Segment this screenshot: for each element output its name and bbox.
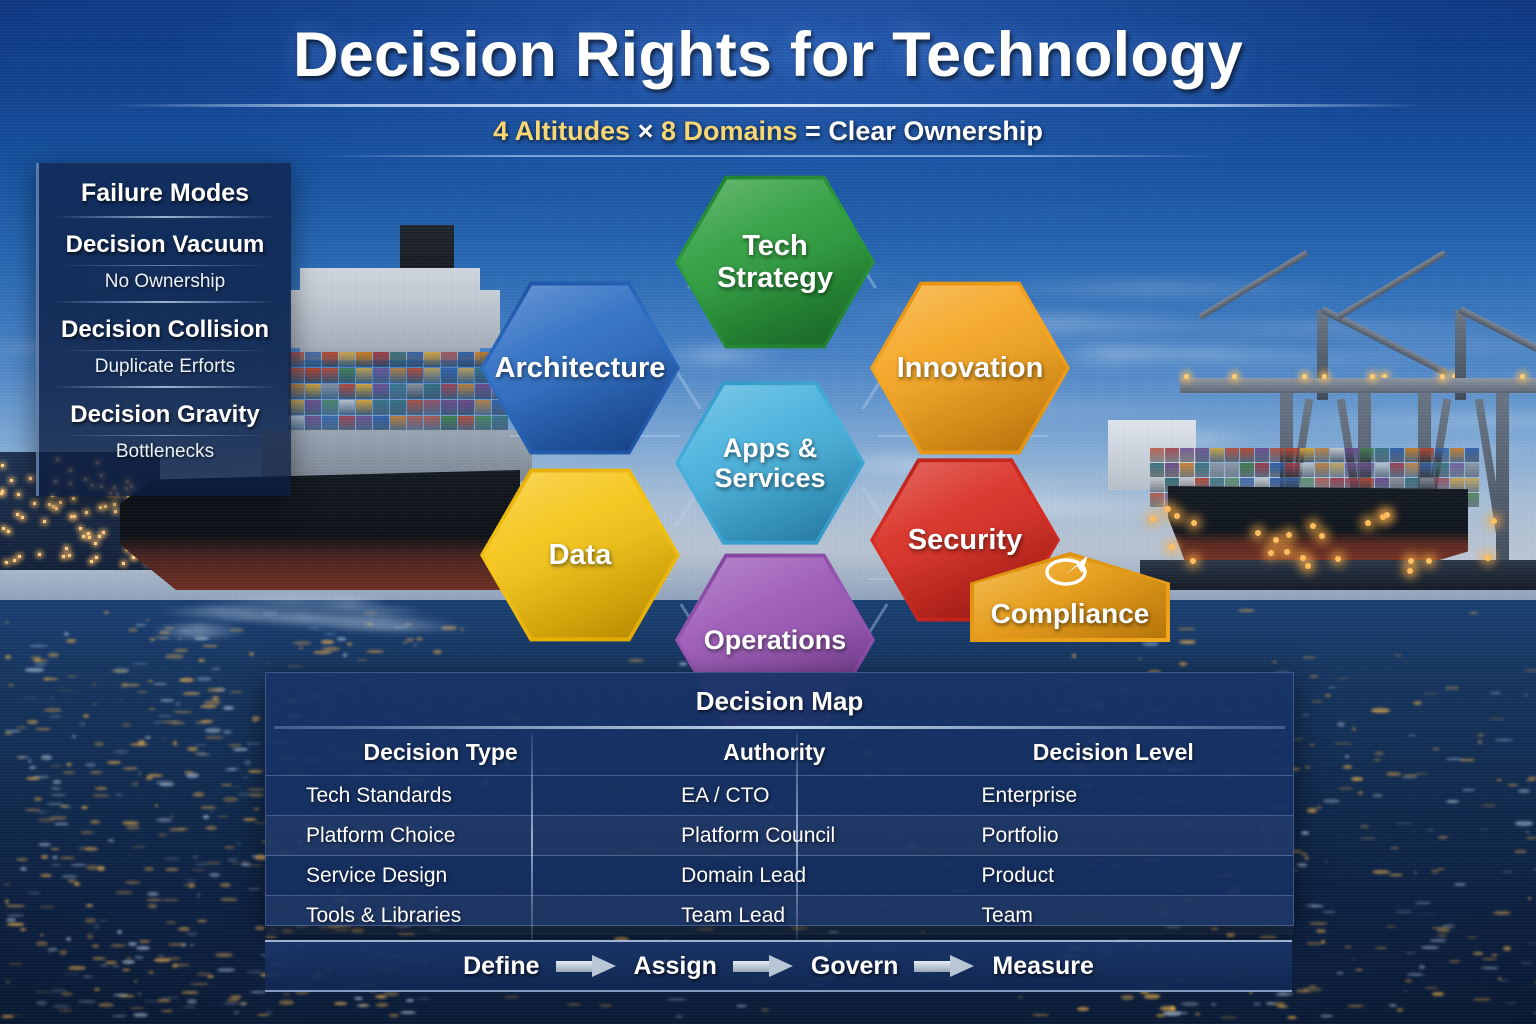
water-reflection (29, 645, 48, 647)
shipping-container (322, 352, 338, 367)
city-light (1, 464, 4, 467)
table-row[interactable]: Service Design Domain Lead Product (266, 856, 1293, 896)
city-light (90, 560, 93, 563)
water-reflection (170, 815, 173, 817)
failure-mode-heading: Decision Vacuum (39, 231, 291, 259)
process-flow-bar: Define Assign Govern Measure (265, 940, 1292, 992)
water-reflection (159, 783, 174, 786)
column-separator (796, 733, 798, 945)
shipping-container (1375, 448, 1389, 462)
table-row[interactable]: Tech Standards EA / CTO Enterprise (266, 776, 1293, 816)
water-reflection (147, 892, 158, 896)
water-reflection (48, 653, 59, 656)
water-reflection (174, 745, 177, 747)
hex-architecture[interactable]: Architecture (480, 278, 680, 458)
water-reflection (7, 914, 24, 917)
water-reflection (225, 768, 236, 771)
water-reflection (25, 668, 44, 672)
water-reflection (87, 934, 93, 939)
shipping-container (1420, 448, 1434, 462)
shipping-container (373, 400, 389, 415)
city-light (62, 555, 65, 558)
bow-wake (257, 610, 351, 620)
shipping-container (1345, 448, 1359, 462)
water-reflection (90, 771, 102, 773)
shipping-container (1390, 463, 1404, 477)
shipping-container (441, 368, 457, 383)
shipping-container (1390, 448, 1404, 462)
water-reflection (81, 806, 88, 810)
water-reflection (389, 1014, 400, 1017)
water-reflection (252, 716, 261, 721)
shipping-container (1435, 448, 1449, 462)
water-reflection (1309, 922, 1327, 924)
water-reflection (206, 862, 221, 864)
city-light (55, 507, 58, 510)
city-light (87, 532, 90, 535)
subtitle-outcome: Clear Ownership (828, 116, 1043, 146)
shipping-container (1150, 448, 1164, 462)
water-reflection (359, 1004, 368, 1007)
water-reflection (1524, 669, 1536, 672)
water-reflection (61, 875, 78, 878)
dock-light (1335, 556, 1341, 562)
city-light (85, 511, 88, 514)
shipping-container (1285, 463, 1299, 477)
water-reflection (1177, 628, 1196, 631)
arrow-right-icon (733, 955, 795, 977)
cell-decision-level: Enterprise (934, 776, 1293, 816)
water-reflection (1259, 936, 1277, 938)
water-reflection (229, 691, 242, 693)
water-reflection (193, 856, 198, 858)
cell-authority: Team Lead (615, 896, 933, 936)
shipping-container (1255, 463, 1269, 477)
water-reflection (1181, 1002, 1199, 1005)
water-reflection (153, 683, 167, 685)
hex-tech-strategy[interactable]: Tech Strategy (675, 172, 875, 352)
water-reflection (1355, 969, 1362, 971)
hex-apps-services[interactable]: Apps & Services (675, 378, 865, 548)
flow-step-measure[interactable]: Measure (976, 952, 1109, 981)
water-reflection (1277, 992, 1293, 996)
city-light (43, 520, 46, 523)
water-reflection (200, 806, 217, 809)
water-reflection (354, 997, 362, 1001)
cell-decision-level: Team (934, 896, 1293, 936)
shipping-container (322, 368, 338, 383)
water-reflection (343, 653, 347, 657)
water-reflection (52, 856, 59, 859)
shipping-container (373, 384, 389, 399)
water-reflection (16, 858, 27, 861)
shipping-container (305, 368, 321, 383)
water-reflection (122, 821, 139, 825)
cell-decision-level: Product (934, 856, 1293, 896)
water-reflection (1303, 987, 1322, 991)
water-reflection (1320, 1015, 1333, 1017)
water-reflection (197, 753, 210, 755)
shipping-container (1420, 463, 1434, 477)
shipping-container (407, 416, 423, 431)
water-reflection (1390, 847, 1400, 849)
water-reflection (406, 638, 414, 642)
water-reflection (126, 684, 140, 686)
shipping-container (356, 384, 372, 399)
water-reflection (150, 638, 154, 641)
shipping-container (356, 416, 372, 431)
water-reflection (1396, 910, 1412, 913)
failure-mode-subdivider (57, 435, 273, 436)
water-reflection (94, 924, 99, 928)
water-reflection (138, 740, 145, 744)
water-reflection (1386, 772, 1401, 776)
water-reflection (34, 991, 51, 993)
water-reflection (197, 893, 200, 897)
shipping-container (1330, 448, 1344, 462)
subtitle-operator-times: × (638, 116, 654, 146)
water-reflection (1138, 658, 1142, 660)
water-reflection (50, 765, 61, 767)
water-reflection (223, 706, 235, 710)
shipping-container (1465, 463, 1479, 477)
water-reflection (375, 995, 386, 998)
arrow-right-icon (914, 955, 976, 977)
water-reflection (78, 1000, 95, 1003)
water-reflection (41, 755, 51, 759)
hex-data[interactable]: Data (480, 465, 680, 645)
shipping-container (339, 352, 355, 367)
water-reflection (1405, 979, 1412, 983)
water-reflection (313, 651, 331, 654)
shipping-container (441, 400, 457, 415)
failure-modes-divider (53, 301, 277, 303)
water-reflection (233, 748, 248, 751)
water-reflection (17, 756, 29, 758)
water-reflection (1306, 942, 1321, 945)
water-reflection (228, 744, 242, 747)
water-reflection (1156, 1014, 1165, 1017)
water-reflection (183, 692, 200, 695)
shipping-container (1465, 448, 1479, 462)
hex-label: Apps & Services (675, 433, 865, 493)
water-reflection (104, 611, 109, 615)
city-light (122, 562, 125, 565)
failure-mode-item: Decision Vacuum No Ownership (39, 231, 291, 293)
shipping-container (339, 416, 355, 431)
water-reflection (1338, 787, 1353, 789)
water-reflection (1343, 765, 1352, 769)
water-reflection (1316, 929, 1326, 932)
connector-line (675, 369, 702, 410)
water-reflection (112, 965, 120, 967)
water-reflection (133, 1013, 147, 1017)
shipping-container (1195, 448, 1209, 462)
city-light (95, 556, 98, 559)
domain-hex-cluster: Tech Strategy Architecture Innovation Ap… (460, 160, 1100, 670)
water-reflection (134, 980, 137, 983)
shipping-container (305, 352, 321, 367)
city-light (68, 554, 71, 557)
water-reflection (1432, 992, 1444, 995)
water-reflection (68, 879, 76, 882)
water-reflection (131, 782, 139, 786)
shipping-container (1255, 448, 1269, 462)
dock-light (1255, 530, 1261, 536)
water-reflection (1432, 748, 1441, 749)
water-reflection (1505, 1002, 1518, 1004)
water-reflection (1454, 883, 1466, 886)
water-reflection (83, 975, 94, 977)
water-reflection (1253, 1002, 1261, 1005)
water-reflection (1360, 825, 1369, 827)
shipping-container (322, 384, 338, 399)
water-reflection (48, 952, 52, 955)
shipping-container (1435, 463, 1449, 477)
water-reflection (1360, 838, 1375, 839)
water-reflection (173, 711, 192, 713)
quay-right (1140, 560, 1536, 590)
shipping-container (305, 416, 321, 431)
water-reflection (41, 855, 48, 858)
water-reflection (293, 641, 311, 645)
water-reflection (146, 899, 162, 901)
water-reflection (1489, 718, 1504, 720)
water-reflection (5, 621, 9, 624)
compliance-swoosh-icon (1041, 551, 1099, 596)
water-reflection (356, 659, 368, 661)
shipping-container (1300, 448, 1314, 462)
failure-mode-item: Decision Gravity Bottlenecks (39, 401, 291, 463)
water-reflection (36, 1001, 47, 1005)
shipping-container (390, 384, 406, 399)
water-reflection (194, 744, 206, 746)
city-light (2, 527, 5, 530)
shipping-container (390, 352, 406, 367)
city-light (10, 479, 13, 482)
water-reflection (181, 991, 199, 994)
water-reflection (247, 788, 265, 791)
failure-mode-item: Decision Collision Duplicate Erforts (39, 316, 291, 378)
water-reflection (215, 953, 233, 957)
water-reflection (60, 857, 75, 858)
shipping-container (322, 400, 338, 415)
water-reflection (201, 720, 212, 723)
water-reflection (94, 742, 105, 746)
shipping-container (1375, 463, 1389, 477)
water-reflection (59, 950, 67, 955)
shipping-container (407, 352, 423, 367)
dock-light (1273, 537, 1279, 543)
water-reflection (1431, 869, 1439, 873)
failure-mode-sub: Duplicate Erforts (39, 356, 291, 378)
bow-wake (325, 624, 478, 632)
hex-innovation[interactable]: Innovation (870, 278, 1070, 458)
hex-label: Security (902, 524, 1028, 556)
water-reflection (223, 1002, 238, 1005)
table-row[interactable]: Platform Choice Platform Council Portfol… (266, 816, 1293, 856)
shipping-container (407, 384, 423, 399)
water-reflection (248, 770, 263, 773)
water-reflection (174, 649, 187, 653)
shipping-container (1360, 463, 1374, 477)
city-light (38, 553, 41, 556)
water-reflection (1238, 609, 1255, 612)
water-reflection (51, 697, 54, 699)
water-reflection (1302, 714, 1310, 716)
hex-label: Tech Strategy (675, 230, 875, 295)
water-reflection (1449, 960, 1460, 962)
water-reflection (126, 825, 140, 829)
shipping-container (1195, 463, 1209, 477)
failure-mode-heading: Decision Collision (39, 316, 291, 344)
dock-light (1300, 555, 1306, 561)
water-reflection (146, 618, 149, 621)
water-reflection (1179, 662, 1187, 665)
water-reflection (68, 966, 86, 970)
water-reflection (26, 777, 40, 780)
city-light (102, 531, 105, 534)
water-reflection (158, 954, 164, 957)
water-reflection (130, 1007, 144, 1010)
decision-map-title: Decision Map (266, 686, 1293, 717)
dock-light (1191, 520, 1197, 526)
water-reflection (126, 957, 131, 959)
shipping-container (1150, 493, 1164, 507)
cell-authority: EA / CTO (615, 776, 933, 816)
water-reflection (1427, 829, 1434, 831)
shipping-container (1315, 463, 1329, 477)
shipping-container (424, 400, 440, 415)
water-reflection (761, 1008, 769, 1012)
ship-hull-right (1168, 486, 1468, 564)
water-reflection (347, 642, 352, 646)
water-reflection (113, 750, 129, 754)
water-reflection (1414, 871, 1418, 873)
cell-decision-level: Portfolio (934, 816, 1293, 856)
shipping-container (339, 400, 355, 415)
water-reflection (169, 828, 185, 831)
city-light (59, 501, 62, 504)
table-header-row: Decision Type Authority Decision Level (266, 729, 1293, 776)
water-reflection (1421, 946, 1439, 949)
subtitle-operator-equals: = (805, 116, 821, 146)
city-light (5, 561, 8, 564)
table-row[interactable]: Tools & Libraries Team Lead Team (266, 896, 1293, 936)
water-reflection (37, 659, 47, 662)
water-reflection (86, 865, 100, 870)
shipping-container (424, 384, 440, 399)
water-reflection (117, 930, 122, 934)
water-reflection (236, 843, 242, 845)
city-light (29, 477, 32, 480)
water-reflection (149, 708, 156, 710)
flow-step-define[interactable]: Define (447, 952, 555, 981)
water-reflection (1374, 751, 1384, 756)
shipping-container (407, 368, 423, 383)
water-reflection (28, 892, 41, 894)
water-reflection (49, 816, 68, 820)
shipping-container (1270, 463, 1284, 477)
water-reflection (1438, 836, 1449, 839)
shipping-container (339, 368, 355, 383)
water-reflection (1445, 686, 1459, 690)
water-reflection (64, 632, 69, 636)
flow-step-govern[interactable]: Govern (795, 952, 915, 981)
water-reflection (1526, 837, 1536, 839)
city-light (99, 506, 102, 509)
water-reflection (1424, 987, 1439, 989)
failure-modes-divider (53, 216, 277, 218)
water-reflection (1528, 897, 1531, 901)
water-reflection (667, 998, 686, 1001)
water-reflection (1520, 962, 1533, 964)
water-reflection (321, 640, 335, 643)
water-reflection (51, 787, 61, 790)
city-light (88, 536, 91, 539)
city-light (7, 530, 10, 533)
water-reflection (53, 780, 61, 783)
water-reflection (139, 940, 151, 942)
water-reflection (98, 1003, 114, 1007)
water-reflection (227, 998, 239, 1001)
city-light (48, 503, 51, 506)
water-reflection (5, 655, 11, 659)
water-reflection (1503, 946, 1511, 951)
shipping-container (441, 416, 457, 431)
water-reflection (1415, 902, 1432, 904)
failure-mode-subdivider (57, 265, 273, 266)
water-reflection (125, 881, 141, 884)
water-reflection (83, 714, 89, 718)
cell-decision-type: Tech Standards (266, 776, 615, 816)
water-reflection (95, 787, 107, 790)
shipping-container (1150, 463, 1164, 477)
failure-modes-divider (53, 386, 277, 388)
water-reflection (6, 980, 10, 984)
cell-decision-type: Service Design (266, 856, 615, 896)
water-reflection (27, 720, 38, 724)
water-reflection (1481, 804, 1497, 808)
shipping-container (1240, 463, 1254, 477)
water-reflection (1508, 784, 1517, 787)
dock-light (1150, 516, 1156, 522)
flow-step-assign[interactable]: Assign (618, 952, 733, 981)
subtitle-altitudes: 4 Altitudes (493, 116, 630, 146)
shipping-container (390, 416, 406, 431)
water-reflection (128, 942, 137, 946)
water-reflection (145, 736, 152, 739)
shipping-container (1450, 463, 1464, 477)
water-reflection (1144, 994, 1159, 999)
water-reflection (148, 680, 152, 682)
water-reflection (66, 937, 70, 941)
water-reflection (158, 833, 166, 837)
water-reflection (1496, 779, 1502, 781)
water-reflection (1473, 998, 1490, 1001)
water-reflection (38, 843, 51, 846)
water-reflection (1358, 791, 1363, 795)
water-reflection (51, 989, 67, 993)
pent-label: Compliance (991, 598, 1150, 630)
water-reflection (74, 882, 80, 886)
water-reflection (66, 763, 72, 766)
water-reflection (675, 1015, 684, 1018)
water-reflection (175, 702, 181, 706)
water-reflection (1323, 799, 1340, 803)
decision-map-table: Decision Type Authority Decision Level T… (266, 729, 1293, 935)
water-reflection (115, 794, 123, 796)
